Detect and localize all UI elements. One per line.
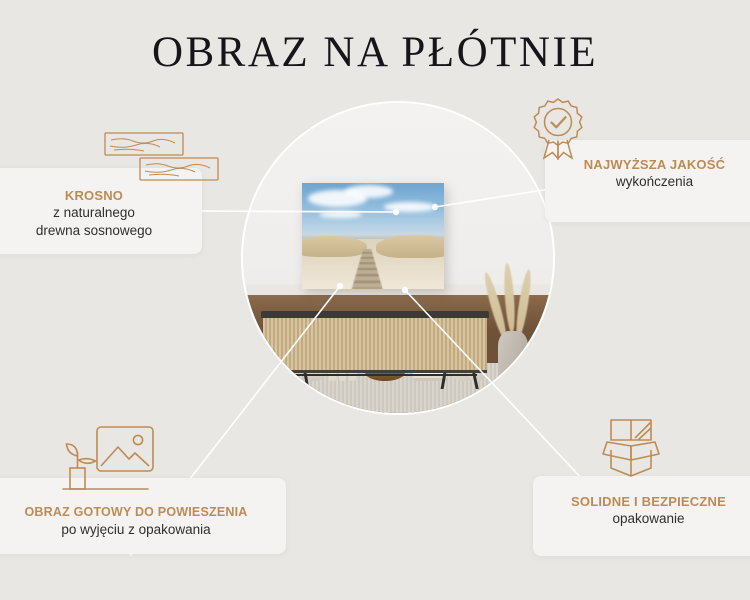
- feature-headline-opakowanie: SOLIDNE I BEZPIECZNE: [533, 494, 750, 510]
- feature-subline-krosno-1: z naturalnego: [0, 204, 202, 222]
- room-scene: [243, 103, 553, 413]
- feature-subline-opakowanie-1: opakowanie: [533, 510, 750, 528]
- page-title: OBRAZ NA PŁÓTNIE: [0, 28, 750, 77]
- canvas-artwork: [302, 183, 444, 289]
- sideboard-top: [261, 311, 489, 318]
- sideboard: [261, 311, 489, 381]
- infographic-root: OBRAZ NA PŁÓTNIE: [0, 0, 750, 600]
- feature-headline-gotowy: OBRAZ GOTOWY DO POWIESZENIA: [0, 505, 286, 521]
- feature-headline-krosno: KROSNO: [0, 188, 202, 204]
- product-scene-circle: [243, 103, 553, 413]
- floor-vase: [498, 331, 528, 399]
- feature-subline-jakosc-1: wykończenia: [545, 173, 750, 191]
- cloud: [345, 185, 393, 198]
- framed-picture-plant-icon: [58, 424, 166, 501]
- cloud: [319, 211, 362, 218]
- cardboard-box-icon: [597, 416, 665, 485]
- feature-subline-krosno-2: drewna sosnowego: [0, 222, 202, 240]
- wood-planks-icon: [104, 132, 220, 189]
- dune-grass-left: [302, 236, 367, 257]
- feature-headline-jakosc: NAJWYŻSZA JAKOŚĆ: [545, 157, 750, 173]
- sideboard-fluted-front: [263, 318, 487, 373]
- dune-grass-right: [376, 235, 444, 258]
- cloud: [384, 202, 435, 212]
- feature-subline-gotowy-1: po wyjęciu z opakowania: [0, 521, 286, 539]
- sideboard-legs: [271, 373, 479, 389]
